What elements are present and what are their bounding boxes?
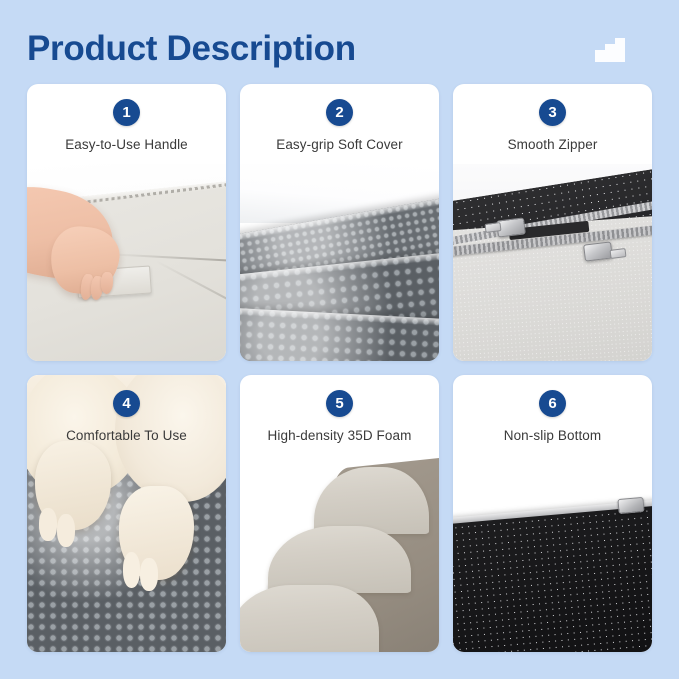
feature-card[interactable]: 2 Easy-grip Soft Cover [240,84,439,361]
header: Product Description [27,24,655,74]
card-header: 1 Easy-to-Use Handle [27,84,226,164]
feature-photo-foam-stairs [240,455,439,652]
feature-card[interactable]: 1 Easy-to-Use Handle [27,84,226,361]
feature-card[interactable]: 6 Non-slip Bottom [453,375,652,652]
stairs-icon [593,36,629,64]
feature-photo-nonslip-bottom [453,455,652,652]
card-header: 5 High-density 35D Foam [240,375,439,455]
step-badge: 2 [326,99,353,126]
feature-photo-soft-cover [240,164,439,361]
step-badge: 5 [326,390,353,417]
feature-card[interactable]: 3 Smooth Zipper [453,84,652,361]
product-description-infographic: Product Description 1 [0,0,679,679]
feature-photo-zipper [453,164,652,361]
card-header: 6 Non-slip Bottom [453,375,652,455]
step-badge: 6 [539,390,566,417]
card-header: 3 Smooth Zipper [453,84,652,164]
feature-photo-dog-paws [27,375,226,652]
feature-label: Smooth Zipper [508,137,598,152]
feature-photo-handle [27,164,226,361]
step-badge: 1 [113,99,140,126]
feature-card[interactable]: 4 Comfortable To Use [27,375,226,652]
feature-label: Non-slip Bottom [504,428,602,443]
feature-card[interactable]: 5 High-density 35D Foam [240,375,439,652]
feature-label: Easy-to-Use Handle [65,137,188,152]
page-title: Product Description [27,24,655,74]
feature-card-grid: 1 Easy-to-Use Handle 2 Easy-grip Soft Co… [27,84,652,652]
card-header: 2 Easy-grip Soft Cover [240,84,439,164]
feature-label: Easy-grip Soft Cover [276,137,403,152]
feature-label: High-density 35D Foam [268,428,412,443]
step-badge: 3 [539,99,566,126]
